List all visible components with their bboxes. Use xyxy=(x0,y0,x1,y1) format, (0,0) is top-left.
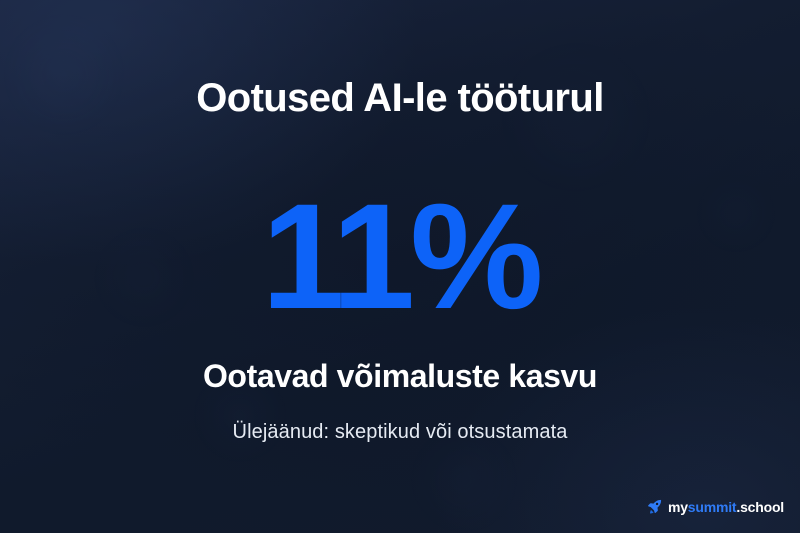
logo-word-my: my xyxy=(668,499,688,515)
logo-word-school: .school xyxy=(736,499,784,515)
stat-container: 11% xyxy=(0,186,800,326)
brand-logo-text: mysummit.school xyxy=(668,500,784,514)
brand-logo: mysummit.school xyxy=(646,498,784,515)
stat-subheadline: Ootavad võimaluste kasvu xyxy=(0,358,800,395)
rocket-icon xyxy=(646,498,663,515)
logo-word-summit: summit xyxy=(688,499,737,515)
stat-caption: Ülejäänud: skeptikud või otsustamata xyxy=(0,420,800,444)
stat-slide: Ootused AI-le tööturul 11% Ootavad võima… xyxy=(0,0,800,533)
page-title: Ootused AI-le tööturul xyxy=(0,76,800,120)
stat-value: 11% xyxy=(262,181,539,331)
slide-content: Ootused AI-le tööturul 11% Ootavad võima… xyxy=(0,0,800,533)
